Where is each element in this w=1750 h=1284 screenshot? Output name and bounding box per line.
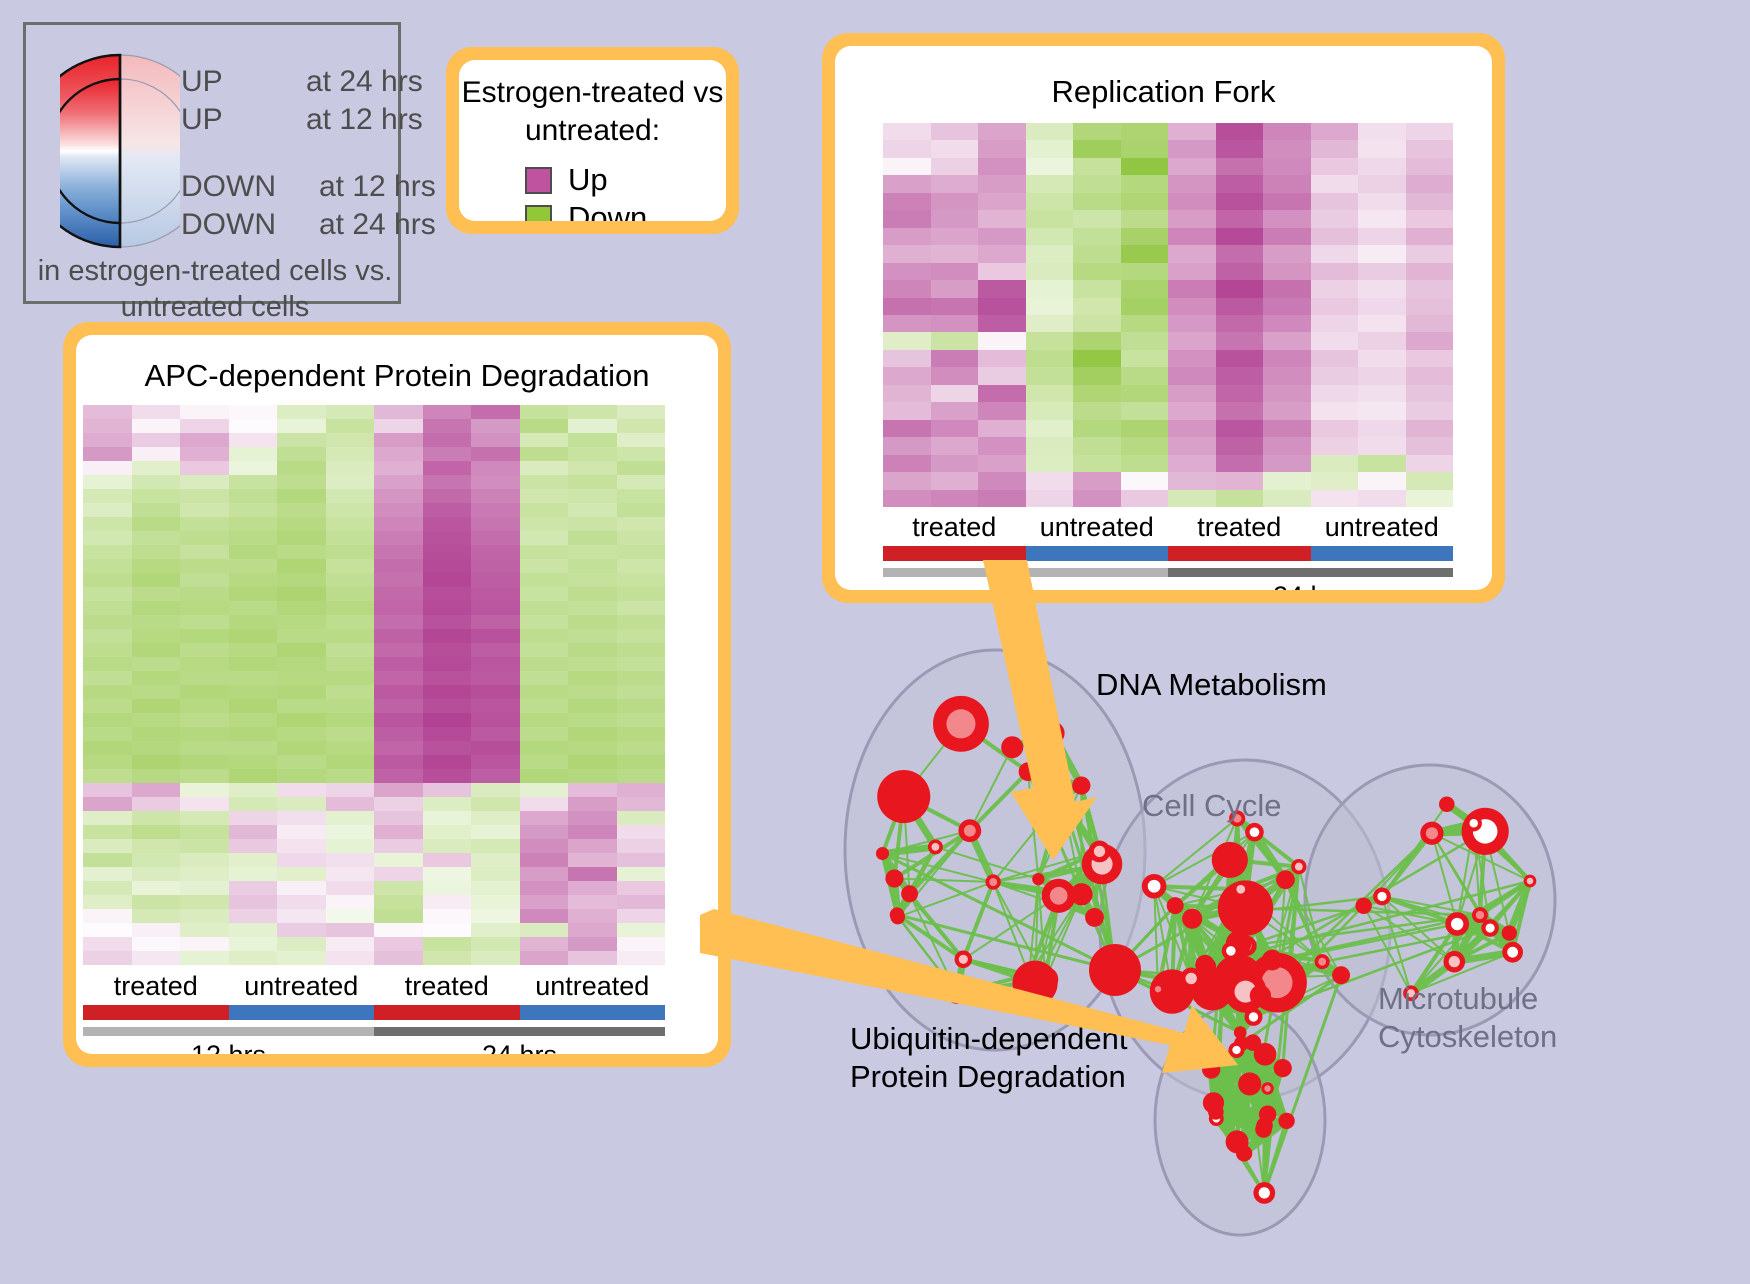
heatmap-cell bbox=[1311, 210, 1359, 227]
heatmap-cell bbox=[83, 405, 132, 419]
heatmap-cell bbox=[374, 797, 423, 811]
heatmap-cell bbox=[1263, 367, 1311, 384]
heatmap-cell bbox=[132, 909, 181, 923]
heatmap-cell bbox=[277, 867, 326, 881]
heatmap-cell bbox=[277, 951, 326, 965]
heatmap-cell bbox=[883, 175, 931, 192]
network-node bbox=[1278, 1113, 1294, 1129]
heatmap-cell bbox=[229, 517, 278, 531]
heatmap-cell bbox=[423, 503, 472, 517]
heatmap-cell bbox=[83, 825, 132, 839]
heatmap-cell bbox=[277, 755, 326, 769]
heatmap-cell bbox=[326, 755, 375, 769]
heatmap-cell bbox=[568, 853, 617, 867]
heatmap-cell bbox=[883, 472, 931, 489]
heatmap-cell bbox=[568, 433, 617, 447]
heatmap-cell bbox=[931, 350, 979, 367]
network-node bbox=[1524, 875, 1537, 888]
heatmap-cell bbox=[83, 741, 132, 755]
heatmap-cell bbox=[374, 573, 423, 587]
heatmap-cell bbox=[1311, 472, 1359, 489]
heatmap-cell bbox=[277, 573, 326, 587]
heatmap-cell bbox=[1026, 472, 1074, 489]
heatmap-cell bbox=[1358, 175, 1406, 192]
heatmap-cell bbox=[883, 193, 931, 210]
timepoint-color-bar bbox=[83, 1027, 665, 1036]
heatmap-cell bbox=[1358, 210, 1406, 227]
heatmap-cell bbox=[277, 909, 326, 923]
heatmap-cell bbox=[1073, 158, 1121, 175]
heatmap-cell bbox=[471, 853, 520, 867]
heatmap-cell bbox=[180, 923, 229, 937]
heatmap-cell bbox=[229, 769, 278, 783]
heatmap-cell bbox=[374, 727, 423, 741]
heatmap-cell bbox=[471, 615, 520, 629]
heatmap-cell bbox=[229, 545, 278, 559]
heatmap-cell bbox=[520, 909, 569, 923]
heatmap-cell bbox=[568, 797, 617, 811]
heatmap-cell bbox=[1216, 263, 1264, 280]
heatmap-cell bbox=[1121, 193, 1169, 210]
heatmap-cell bbox=[229, 461, 278, 475]
heatmap-cell bbox=[978, 280, 1026, 297]
heatmap-cell bbox=[423, 797, 472, 811]
heatmap-cell bbox=[1121, 455, 1169, 472]
heatmap-cell bbox=[1263, 123, 1311, 140]
heatmap-cell bbox=[471, 825, 520, 839]
heatmap-cell bbox=[423, 629, 472, 643]
heatmap-cell bbox=[978, 367, 1026, 384]
heatmap-cell bbox=[83, 853, 132, 867]
heatmap-cell bbox=[568, 699, 617, 713]
heatmap-cell bbox=[1406, 402, 1454, 419]
heatmap-cell bbox=[568, 671, 617, 685]
heatmap-cell bbox=[326, 671, 375, 685]
heatmap-cell bbox=[520, 447, 569, 461]
treatment-bar-segment bbox=[1311, 546, 1454, 561]
heatmap-cell bbox=[931, 402, 979, 419]
heatmap-cell bbox=[1358, 455, 1406, 472]
heatmap-cell bbox=[520, 839, 569, 853]
treatment-bar-segment bbox=[1026, 546, 1169, 561]
network-node bbox=[1355, 898, 1371, 914]
heatmap-cell bbox=[326, 699, 375, 713]
heatmap-cell bbox=[1216, 455, 1264, 472]
heatmap-cell bbox=[931, 140, 979, 157]
network-node bbox=[876, 847, 889, 860]
heatmap-cell bbox=[1216, 298, 1264, 315]
heatmap-cell bbox=[229, 881, 278, 895]
heatmap-cell bbox=[1216, 490, 1264, 507]
heatmap-cell bbox=[568, 559, 617, 573]
network-node bbox=[1032, 873, 1044, 885]
heatmap-cell bbox=[1358, 472, 1406, 489]
heatmap-cell bbox=[423, 447, 472, 461]
heatmap-cell bbox=[180, 853, 229, 867]
heatmap-cell bbox=[883, 385, 931, 402]
heatmap-cell bbox=[520, 545, 569, 559]
heatmap-cell bbox=[1406, 385, 1454, 402]
heatmap-cell bbox=[83, 951, 132, 965]
heatmap-cell bbox=[229, 951, 278, 965]
wheel-up-12-time: at 12 hrs bbox=[306, 103, 423, 137]
heatmap-cell bbox=[1168, 315, 1216, 332]
heatmap-cell bbox=[277, 601, 326, 615]
heatmap-cell bbox=[883, 123, 931, 140]
heatmap-cell bbox=[883, 140, 931, 157]
heatmap-cell bbox=[617, 671, 666, 685]
heatmap-cell bbox=[1311, 437, 1359, 454]
heatmap-cell bbox=[132, 853, 181, 867]
heatmap-cell bbox=[180, 475, 229, 489]
heatmap-cell bbox=[1358, 367, 1406, 384]
heatmap-cell bbox=[132, 405, 181, 419]
heatmap-cell bbox=[180, 951, 229, 965]
heatmap-cell bbox=[277, 923, 326, 937]
network-node bbox=[885, 869, 903, 887]
heatmap-cell bbox=[326, 923, 375, 937]
heatmap-cell bbox=[1121, 437, 1169, 454]
heatmap-cell bbox=[277, 811, 326, 825]
heatmap-cell bbox=[326, 503, 375, 517]
heatmap-cell bbox=[180, 867, 229, 881]
heatmap-cell bbox=[883, 263, 931, 280]
heatmap-cell bbox=[132, 517, 181, 531]
heatmap-cell bbox=[1121, 175, 1169, 192]
heatmap-cell bbox=[617, 825, 666, 839]
heatmap-cell bbox=[83, 769, 132, 783]
heatmap-cell bbox=[568, 461, 617, 475]
heatmap-cell bbox=[568, 839, 617, 853]
heatmap-cell bbox=[374, 811, 423, 825]
heatmap-cell bbox=[520, 685, 569, 699]
heatmap-cell bbox=[374, 951, 423, 965]
heatmap-cell bbox=[229, 615, 278, 629]
heatmap-cell bbox=[471, 419, 520, 433]
heatmap-cell bbox=[520, 783, 569, 797]
heatmap-cell bbox=[229, 489, 278, 503]
heatmap-cell bbox=[374, 825, 423, 839]
up-color-swatch bbox=[525, 167, 552, 194]
heatmap-cell bbox=[374, 461, 423, 475]
heatmap-cell bbox=[132, 615, 181, 629]
heatmap-cell bbox=[180, 909, 229, 923]
treatment-label: treated bbox=[374, 971, 520, 1002]
heatmap-cell bbox=[423, 937, 472, 951]
network-node bbox=[1232, 881, 1249, 898]
heatmap-cell bbox=[1311, 315, 1359, 332]
heatmap-cell bbox=[374, 867, 423, 881]
up-label: Up bbox=[568, 162, 608, 198]
heatmap-cell bbox=[1263, 280, 1311, 297]
heatmap-cell bbox=[1168, 332, 1216, 349]
heatmap-cell bbox=[277, 671, 326, 685]
wheel-down-24-time: at 24 hrs bbox=[319, 208, 436, 242]
heatmap-cell bbox=[423, 433, 472, 447]
heatmap-cell bbox=[520, 517, 569, 531]
heatmap-cell bbox=[326, 937, 375, 951]
color-wheel-legend: UP at 24 hrs UP at 12 hrs DOWN at 12 hrs… bbox=[23, 22, 401, 304]
heatmap-cell bbox=[1216, 245, 1264, 262]
heatmap-cell bbox=[1216, 210, 1264, 227]
heatmap-cell bbox=[132, 461, 181, 475]
heatmap-cell bbox=[617, 559, 666, 573]
heatmap-cell bbox=[1263, 158, 1311, 175]
heatmap-cell bbox=[326, 797, 375, 811]
heatmap-cell bbox=[1406, 193, 1454, 210]
wheel-up-12-label: UP bbox=[181, 103, 223, 137]
heatmap-cell bbox=[520, 405, 569, 419]
heatmap-cell bbox=[1406, 455, 1454, 472]
heatmap-cell bbox=[83, 881, 132, 895]
heatmap-cell bbox=[423, 755, 472, 769]
heatmap-cell bbox=[423, 895, 472, 909]
treatment-label: treated bbox=[83, 971, 229, 1002]
heatmap-cell bbox=[326, 727, 375, 741]
heatmap-cell bbox=[1216, 367, 1264, 384]
heatmap-cell bbox=[1311, 490, 1359, 507]
heatmap-cell bbox=[83, 923, 132, 937]
heatmap-cell bbox=[423, 867, 472, 881]
heatmap-cell bbox=[520, 713, 569, 727]
heatmap-cell bbox=[520, 937, 569, 951]
heatmap-cell bbox=[229, 587, 278, 601]
heatmap-cell bbox=[277, 475, 326, 489]
heatmap-cell bbox=[471, 937, 520, 951]
heatmap-cell bbox=[374, 895, 423, 909]
heatmap-cell bbox=[1121, 158, 1169, 175]
network-node bbox=[1466, 815, 1482, 831]
heatmap-cell bbox=[180, 615, 229, 629]
heatmap-cell bbox=[471, 559, 520, 573]
heatmap-cell bbox=[471, 783, 520, 797]
heatmap-cell bbox=[471, 727, 520, 741]
heatmap-cell bbox=[617, 867, 666, 881]
heatmap-cell bbox=[1358, 140, 1406, 157]
heatmap-cell bbox=[132, 951, 181, 965]
heatmap-cell bbox=[423, 657, 472, 671]
heatmap-cell bbox=[1358, 193, 1406, 210]
heatmap-cell bbox=[617, 643, 666, 657]
heatmap-cell bbox=[1216, 420, 1264, 437]
heatmap-cell bbox=[617, 517, 666, 531]
network-node bbox=[1253, 1182, 1275, 1204]
heatmap-cell bbox=[978, 298, 1026, 315]
heatmap-cell bbox=[1358, 298, 1406, 315]
heatmap-cell bbox=[617, 769, 666, 783]
heatmap-cell bbox=[471, 587, 520, 601]
heatmap-cell bbox=[1168, 402, 1216, 419]
heatmap-cell bbox=[180, 895, 229, 909]
key-entry-down: Down bbox=[525, 200, 647, 221]
heatmap-cell bbox=[1121, 420, 1169, 437]
heatmap-cell bbox=[520, 797, 569, 811]
heatmap-cell bbox=[374, 741, 423, 755]
heatmap-cell bbox=[1121, 490, 1169, 507]
heatmap-cell bbox=[132, 587, 181, 601]
heatmap-cell bbox=[229, 405, 278, 419]
heatmap-cell bbox=[471, 867, 520, 881]
heatmap-cell bbox=[132, 601, 181, 615]
heatmap-cell bbox=[83, 727, 132, 741]
heatmap-cell bbox=[520, 433, 569, 447]
heatmap-cell bbox=[374, 839, 423, 853]
heatmap-cell bbox=[1216, 472, 1264, 489]
heatmap-cell bbox=[1358, 402, 1406, 419]
heatmap-cell bbox=[978, 455, 1026, 472]
heatmap-cell bbox=[617, 615, 666, 629]
heatmap-cell bbox=[1168, 298, 1216, 315]
heatmap-cell bbox=[83, 615, 132, 629]
heatmap-cell bbox=[132, 783, 181, 797]
timepoint-labels: 12 hrs24 hrs bbox=[883, 581, 1453, 590]
heatmap-cell bbox=[83, 643, 132, 657]
heatmap-cell bbox=[229, 601, 278, 615]
heatmap-cell bbox=[568, 895, 617, 909]
heatmap-cell bbox=[423, 825, 472, 839]
heatmap-cell bbox=[374, 755, 423, 769]
heatmap-cell bbox=[617, 601, 666, 615]
heatmap-cell bbox=[1311, 420, 1359, 437]
heatmap-cell bbox=[1168, 437, 1216, 454]
heatmap-cell bbox=[471, 531, 520, 545]
heatmap-cell bbox=[374, 909, 423, 923]
heatmap-cell bbox=[83, 461, 132, 475]
heatmap-cell bbox=[883, 210, 931, 227]
heatmap-cell bbox=[180, 433, 229, 447]
treatment-label: untreated bbox=[229, 971, 375, 1002]
heatmap-cell bbox=[1406, 210, 1454, 227]
updown-key-panel: Estrogen-treated vs untreated: Up Down bbox=[446, 47, 739, 234]
heatmap-cell bbox=[1216, 193, 1264, 210]
heatmap-cell bbox=[229, 895, 278, 909]
heatmap-cell bbox=[132, 825, 181, 839]
heatmap-cell bbox=[374, 643, 423, 657]
heatmap-cell bbox=[180, 587, 229, 601]
treatment-color-bar bbox=[83, 1005, 665, 1020]
network-node bbox=[1261, 1082, 1273, 1094]
heatmap-cell bbox=[1263, 175, 1311, 192]
heatmap-cell bbox=[978, 402, 1026, 419]
heatmap-cell bbox=[180, 713, 229, 727]
heatmap-cell bbox=[229, 447, 278, 461]
heatmap-cell bbox=[568, 531, 617, 545]
heatmap-cell bbox=[1073, 437, 1121, 454]
heatmap-cell bbox=[471, 405, 520, 419]
heatmap-cell bbox=[931, 228, 979, 245]
heatmap-cell bbox=[1073, 228, 1121, 245]
heatmap-cell bbox=[1311, 367, 1359, 384]
heatmap-cell bbox=[180, 685, 229, 699]
heatmap-cell bbox=[180, 699, 229, 713]
network-node bbox=[1212, 842, 1248, 878]
treatment-labels: treateduntreatedtreateduntreated bbox=[83, 971, 665, 1002]
heatmap-cell bbox=[471, 685, 520, 699]
heatmap-cell bbox=[326, 517, 375, 531]
heatmap-cell bbox=[471, 489, 520, 503]
heatmap-cell bbox=[277, 615, 326, 629]
heatmap-cell bbox=[568, 615, 617, 629]
down-color-swatch bbox=[525, 205, 552, 222]
heatmap-cell bbox=[374, 615, 423, 629]
treatment-bar-segment bbox=[520, 1005, 666, 1020]
heatmap-cell bbox=[568, 545, 617, 559]
heatmap-cell bbox=[471, 909, 520, 923]
heatmap-cell bbox=[617, 685, 666, 699]
heatmap-cell bbox=[277, 853, 326, 867]
heatmap-cell bbox=[978, 263, 1026, 280]
heatmap-cell bbox=[277, 797, 326, 811]
heatmap-cell bbox=[520, 587, 569, 601]
heatmap-cell bbox=[180, 741, 229, 755]
heatmap-cell bbox=[520, 951, 569, 965]
treatment-label: untreated bbox=[1311, 512, 1454, 543]
heatmap-cell bbox=[617, 475, 666, 489]
heatmap-cell bbox=[132, 797, 181, 811]
heatmap-cell bbox=[277, 545, 326, 559]
heatmap-cell bbox=[1026, 210, 1074, 227]
heatmap-cell bbox=[132, 937, 181, 951]
heatmap-cell bbox=[978, 490, 1026, 507]
heatmap-cell bbox=[1358, 420, 1406, 437]
heatmap-cell bbox=[374, 685, 423, 699]
heatmap-cell bbox=[423, 489, 472, 503]
heatmap-cell bbox=[1073, 455, 1121, 472]
heatmap-cell bbox=[520, 419, 569, 433]
heatmap-cell bbox=[83, 657, 132, 671]
heatmap-cell bbox=[1073, 123, 1121, 140]
network-node bbox=[1291, 859, 1306, 874]
heatmap-cell bbox=[1263, 437, 1311, 454]
heatmap-cell bbox=[83, 671, 132, 685]
heatmap-cell bbox=[423, 699, 472, 713]
heatmap-cell bbox=[1168, 280, 1216, 297]
heatmap-cell bbox=[520, 853, 569, 867]
heatmap-cell bbox=[132, 769, 181, 783]
heatmap-cell bbox=[229, 685, 278, 699]
heatmap-cell bbox=[520, 671, 569, 685]
heatmap-cell bbox=[978, 210, 1026, 227]
wheel-legend-footer: in estrogen-treated cells vs. untreated … bbox=[26, 253, 404, 325]
heatmap-cell bbox=[1073, 490, 1121, 507]
heatmap-cell bbox=[931, 193, 979, 210]
heatmap-cell bbox=[1263, 315, 1311, 332]
heatmap-cell bbox=[132, 685, 181, 699]
heatmap-cell bbox=[471, 545, 520, 559]
heatmap-cell bbox=[1216, 123, 1264, 140]
heatmap-cell bbox=[617, 405, 666, 419]
heatmap-cell bbox=[617, 573, 666, 587]
heatmap-cell bbox=[229, 419, 278, 433]
apc-degradation-panel: APC-dependent Protein Degradation treate… bbox=[63, 322, 731, 1067]
heatmap-cell bbox=[423, 839, 472, 853]
heatmap-cell bbox=[1311, 158, 1359, 175]
heatmap-cell bbox=[1026, 175, 1074, 192]
heatmap-cell bbox=[471, 713, 520, 727]
heatmap-cell bbox=[617, 811, 666, 825]
heatmap-cell bbox=[277, 405, 326, 419]
network-node bbox=[1502, 942, 1523, 963]
heatmap-cell bbox=[1168, 193, 1216, 210]
heatmap-cell bbox=[931, 472, 979, 489]
heatmap-cell bbox=[180, 727, 229, 741]
heatmap-cell bbox=[617, 909, 666, 923]
heatmap-cell bbox=[931, 175, 979, 192]
heatmap-cell bbox=[1168, 263, 1216, 280]
heatmap-cell bbox=[1121, 367, 1169, 384]
heatmap-cell bbox=[1216, 332, 1264, 349]
heatmap-cell bbox=[568, 489, 617, 503]
